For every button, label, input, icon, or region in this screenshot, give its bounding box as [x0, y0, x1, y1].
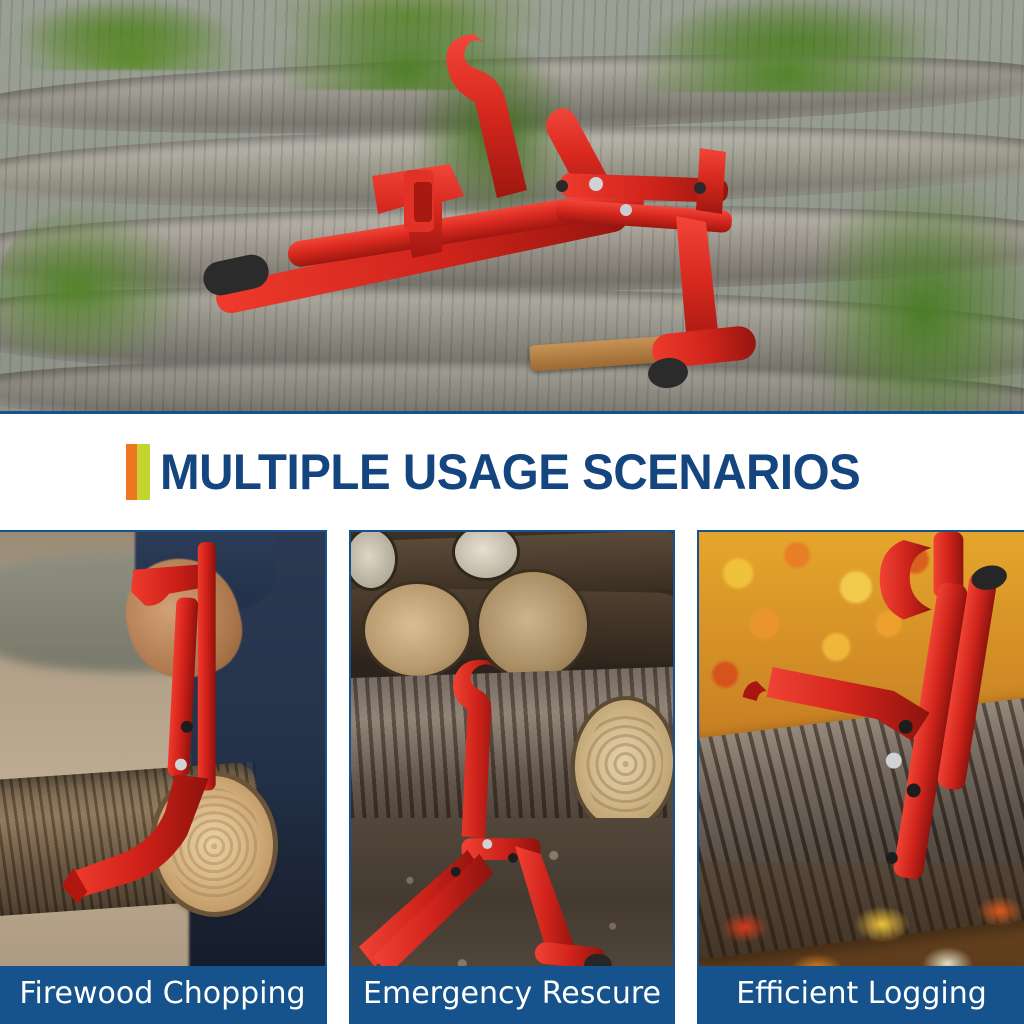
panel-caption-bar: Efficient Logging	[699, 966, 1024, 1022]
product-infographic: MULTIPLE USAGE SCENARIOS	[0, 0, 1024, 1024]
panel-gap	[327, 530, 349, 1024]
panel-caption-bar: Emergency Rescure	[351, 966, 673, 1022]
scenario-panel-emergency-rescure[interactable]: Emergency Rescure	[349, 530, 675, 1024]
log-lifter-tool-panel2	[351, 532, 673, 1020]
panel-image-emergency-rescure	[351, 532, 673, 1022]
panel-image-firewood-chopping	[0, 532, 325, 1022]
accent-bar-orange	[126, 444, 137, 500]
scenario-panel-efficient-logging[interactable]: Efficient Logging	[697, 530, 1024, 1024]
log-lifter-tool-panel3	[699, 532, 1024, 1022]
log-lifter-tool-hero	[0, 0, 1024, 414]
hero-image	[0, 0, 1024, 414]
log-lifter-tool-panel1	[0, 532, 325, 1022]
scenario-panels: Firewood Chopping	[0, 530, 1024, 1024]
panel-caption-bar: Firewood Chopping	[0, 966, 325, 1022]
scenario-panel-firewood-chopping[interactable]: Firewood Chopping	[0, 530, 327, 1024]
panel-caption-text: Efficient Logging	[736, 977, 987, 1011]
title-accent-bars	[126, 444, 150, 500]
panel-caption-text: Firewood Chopping	[19, 977, 305, 1011]
panel-gap	[675, 530, 697, 1024]
panel-caption-text: Emergency Rescure	[363, 977, 661, 1011]
page-title: MULTIPLE USAGE SCENARIOS	[160, 444, 860, 500]
section-title-band: MULTIPLE USAGE SCENARIOS	[0, 414, 1024, 530]
panel-image-efficient-logging	[699, 532, 1024, 1022]
accent-bar-lime	[137, 444, 150, 500]
